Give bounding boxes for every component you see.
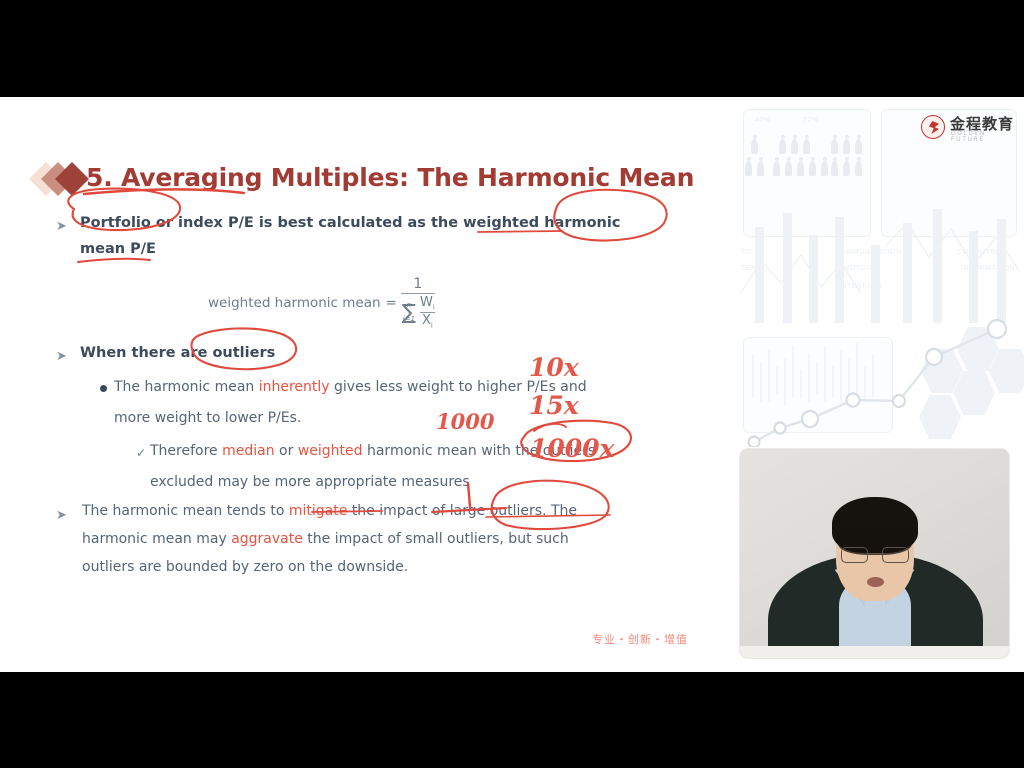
video-player-screen: 40% 72% ES TER COMMUNICATION PROTOCOL IN… [0,0,1024,768]
handwriting-15x: 15x [529,391,579,420]
formula-x-term: Xi [422,313,433,330]
formula-label: weighted harmonic mean [208,295,381,311]
instructor-hair [832,497,918,553]
instructor-webcam-feed[interactable] [740,449,1009,658]
sub1-text-a: The harmonic mean [114,379,259,395]
decor-line-chart [735,97,1024,447]
bullet-1-line-1: Portfolio or index P/E is best calculate… [80,210,620,236]
sub-bullet-1-line-2: more weight to lower P/Es. [114,404,301,433]
instructor-glasses-icon [841,547,909,563]
bullet3-highlight-mitigate: mitigate [289,503,347,519]
sub-bullet-2-line-2: excluded may be more appropriate measure… [150,468,470,497]
bullet-3-line-2: harmonic mean may aggravate the impact o… [82,525,569,554]
sub-bullet-2-line-1: Therefore median or weighted harmonic me… [150,437,595,466]
arrow-bullet-icon-2: ➤ [56,349,67,362]
handwriting-fraction-denominator: 1000 [436,409,494,434]
instructor-mouth [867,577,884,587]
logo-english-name: GOLDEN FUTURE [951,131,1019,143]
instructor-desk [740,646,1009,658]
logo-seal-icon [921,115,945,139]
slide-content: 5. Averaging Multiples: The Harmonic Mea… [0,97,735,672]
formula-equals: = [386,295,397,311]
sigma-lower-limit: i=1 [403,309,415,329]
bullet-2: When there are outliers [80,340,275,366]
dot-bullet-icon [100,385,107,392]
sub2-text-a: Therefore [150,443,222,459]
harmonic-mean-formula: weighted harmonic mean = 1 ∑ n i=1 Wi [208,276,435,329]
formula-denominator: ∑ n i=1 Wi Xi [401,294,435,329]
letterbox-bottom [0,672,1024,768]
sub2-highlight-median: median [222,443,274,459]
formula-fraction: 1 ∑ n i=1 Wi Xi [401,276,435,329]
bullet3-line2-b: the impact of small outliers, but such [303,531,569,547]
bullet-1-line-2: mean P/E [80,236,156,262]
arrow-bullet-icon-3: ➤ [56,508,67,521]
sub2-highlight-weighted: weighted [298,443,363,459]
sub-bullet-1-line-1: The harmonic mean inherently gives less … [114,373,587,402]
decorative-infographic-background: 40% 72% ES TER COMMUNICATION PROTOCOL IN… [735,97,1024,447]
formula-numerator: 1 [403,276,432,293]
bullet3-highlight-aggravate: aggravate [231,531,303,547]
bullet3-line2-a: harmonic mean may [82,531,231,547]
check-bullet-icon: ✓ [136,446,146,460]
bullet-3-line-1: The harmonic mean tends to mitigate the … [82,497,577,526]
letterbox-top [0,0,1024,97]
handwriting-10x: 10x [529,353,579,382]
arrow-bullet-icon-1: ➤ [56,219,67,232]
sub2-text-b: or [275,443,298,459]
formula-w-term: Wi [420,295,435,312]
sub1-highlight-inherently: inherently [259,379,330,395]
sigma-icon: ∑ n i=1 [401,302,417,322]
title-diamond-icon [34,161,90,197]
bullet3-text-a: The harmonic mean tends to [82,503,289,519]
formula-weight-over-x: Wi Xi [420,295,435,329]
bullet3-text-b: the impact of large outliers. The [347,503,577,519]
bullet-3-line-3: outliers are bounded by zero on the down… [82,553,408,582]
handwriting-1000x: 1000x [530,434,615,463]
brand-logo: 金程教育 GOLDEN FUTURE [921,112,1019,144]
footer-tagline: 专业・创新・增值 [592,631,688,647]
page-title: 5. Averaging Multiples: The Harmonic Mea… [86,163,694,192]
